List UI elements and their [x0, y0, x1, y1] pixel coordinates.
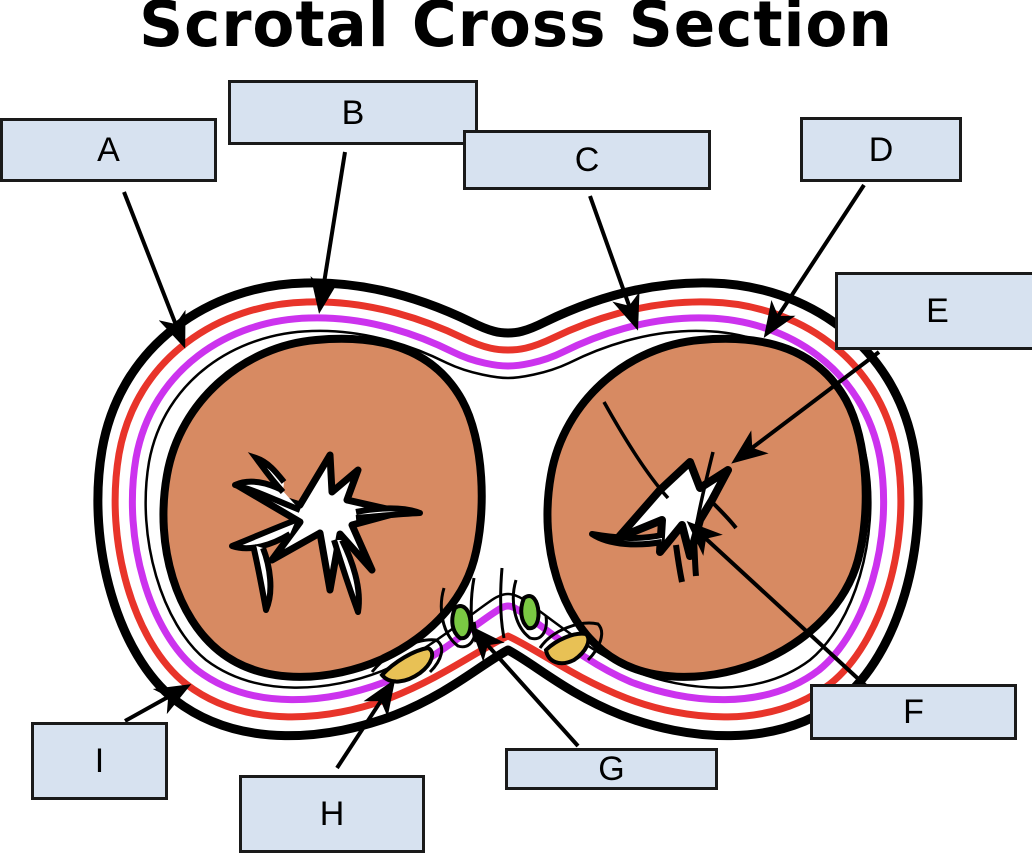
diagram-canvas: Scrotal Cross Section [0, 0, 1032, 856]
leader-arrow-A [124, 192, 183, 343]
label-box-g[interactable]: G [505, 748, 718, 790]
left-testis [163, 339, 481, 677]
right-testis [547, 339, 865, 677]
label-box-h[interactable]: H [239, 775, 425, 853]
label-box-i[interactable]: I [31, 722, 168, 800]
label-box-f[interactable]: F [810, 684, 1017, 740]
left-septum-6 [356, 508, 420, 518]
right-septum-4 [694, 540, 696, 576]
label-box-e[interactable]: E [835, 272, 1032, 350]
label-box-b[interactable]: B [228, 80, 478, 145]
label-box-d[interactable]: D [800, 117, 962, 182]
label-box-a[interactable]: A [0, 118, 217, 182]
label-box-c[interactable]: C [463, 130, 711, 190]
vessel-green-right [521, 596, 538, 628]
vessel-green-left [452, 606, 470, 638]
